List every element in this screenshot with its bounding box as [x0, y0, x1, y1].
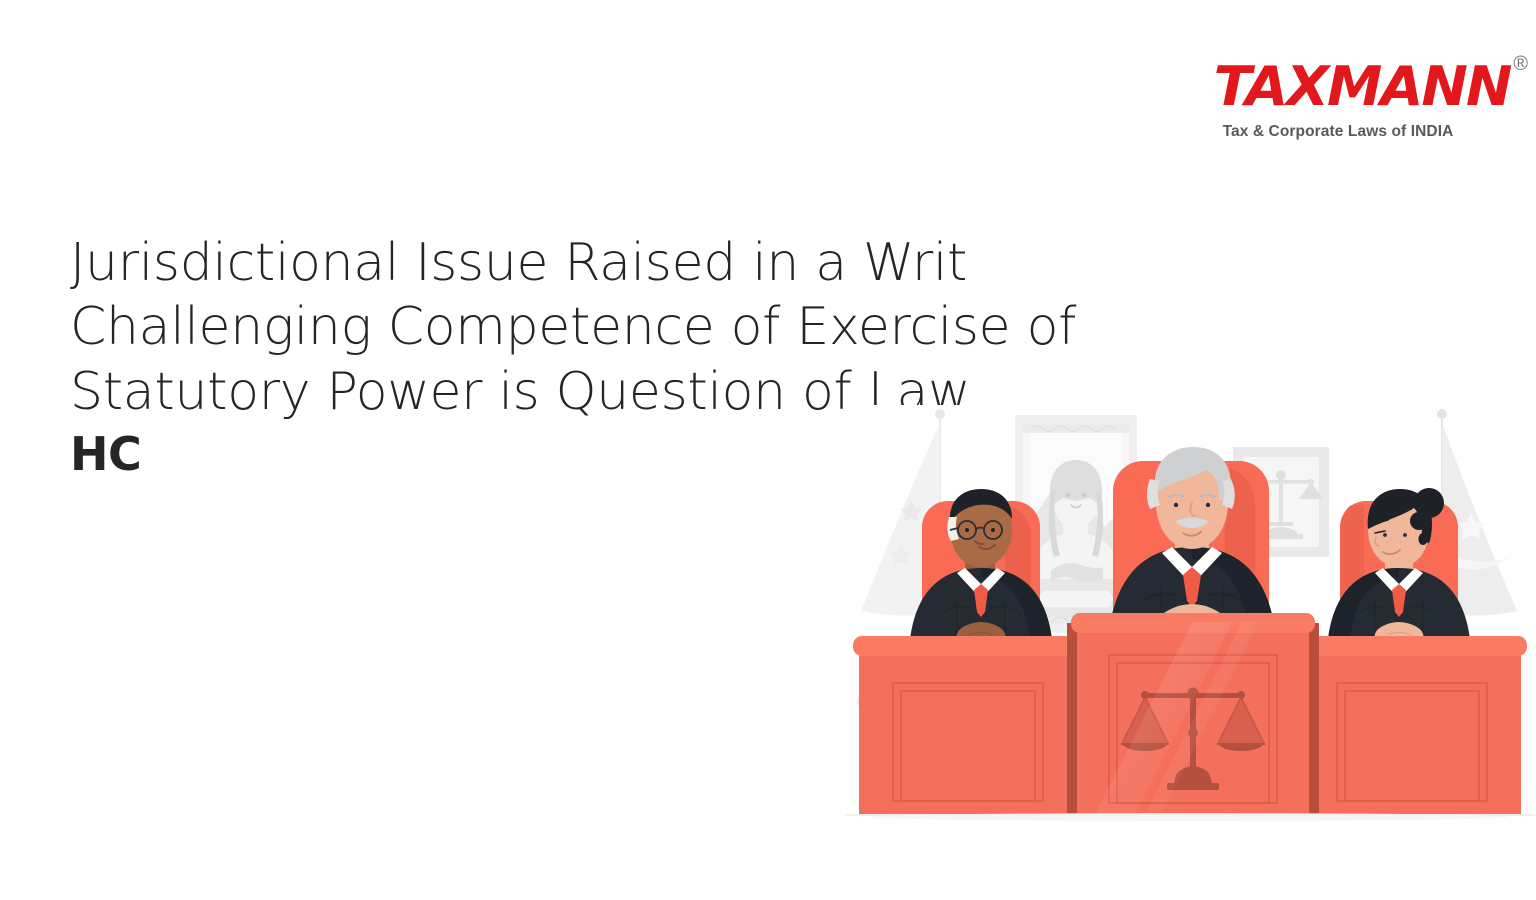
logo-wordmark-wrap: TAXMANN ® [1218, 60, 1506, 114]
registered-trademark-icon: ® [1513, 54, 1528, 74]
logo-wordmark: TAXMANN [1214, 60, 1511, 114]
judge-right-icon [1327, 488, 1471, 649]
taxmann-logo[interactable]: TAXMANN ® Tax & Corporate Laws of INDIA [1218, 60, 1458, 141]
headline-text: Jurisdictional Issue Raised in a Writ Ch… [70, 233, 1076, 422]
wall-nameplate-icon [1037, 590, 1115, 608]
judge-left-icon [909, 489, 1053, 649]
logo-tagline: Tax & Corporate Laws of INDIA [1218, 123, 1458, 141]
bench-center [1067, 613, 1319, 815]
bench-left [853, 636, 1081, 815]
courtroom-scene-svg [845, 405, 1535, 855]
news-banner: TAXMANN ® Tax & Corporate Laws of INDIA … [0, 0, 1536, 900]
bench-right [1299, 636, 1527, 815]
courtroom-illustration [845, 405, 1535, 855]
